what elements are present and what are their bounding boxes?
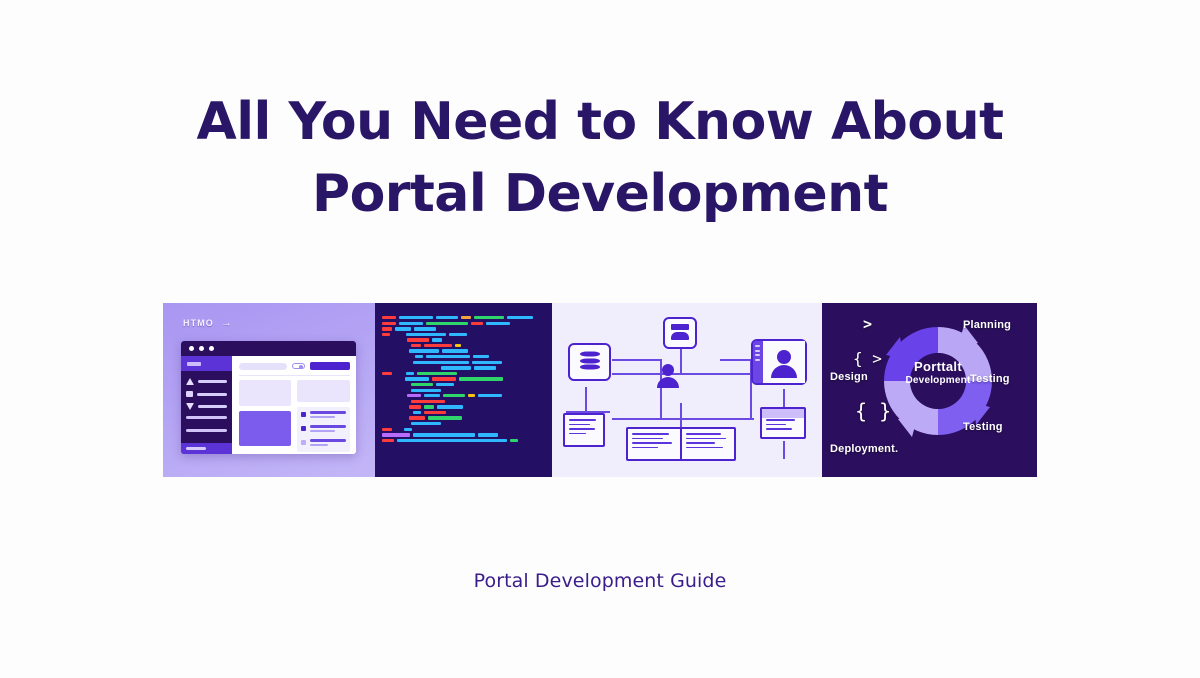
code-line: [382, 333, 544, 336]
divider: [239, 375, 350, 376]
code-token: [441, 366, 471, 369]
code-token: [426, 322, 468, 325]
code-indent: [382, 416, 406, 419]
code-token: [382, 433, 410, 436]
chevron-right-icon: >: [863, 315, 872, 333]
profile-side-menu: [753, 341, 763, 383]
code-token: [411, 422, 441, 425]
code-line: [382, 372, 544, 375]
code-token: [411, 389, 441, 392]
panel-lifecycle-wheel: Porttalt Development Planning Testing Te…: [822, 303, 1037, 477]
braces-icon: { }: [855, 399, 891, 423]
code-token: [413, 361, 469, 364]
code-line: [382, 433, 544, 436]
code-token: [443, 394, 465, 397]
list-item-text: [310, 411, 346, 420]
avatar-icon: [771, 350, 797, 378]
code-token: [432, 377, 456, 380]
htmo-badge-label: HTMO: [183, 318, 214, 328]
connector-line: [680, 349, 682, 375]
title-line-1: All You Need to Know About: [0, 86, 1200, 158]
code-token: [426, 355, 470, 358]
code-line: [382, 349, 544, 352]
panel-architecture-diagram: [552, 303, 822, 477]
code-token: [471, 322, 483, 325]
code-token: [382, 372, 392, 375]
list-item: [301, 411, 346, 420]
code-token: [411, 383, 433, 386]
code-token: [415, 355, 423, 358]
lifecycle-canvas: Porttalt Development Planning Testing Te…: [822, 303, 1037, 477]
code-token: [468, 394, 475, 397]
window-dot-icon: [209, 346, 214, 351]
page-root: All You Need to Know About Portal Develo…: [0, 0, 1200, 678]
code-block: [382, 308, 544, 471]
sidebar-item: [186, 378, 227, 385]
code-indent: [382, 344, 408, 347]
code-token: [473, 355, 489, 358]
code-line: [382, 322, 544, 325]
code-token: [399, 322, 423, 325]
code-token: [399, 316, 433, 319]
connector-line: [585, 387, 587, 413]
list-item: [301, 439, 346, 448]
code-token: [409, 416, 425, 419]
arrow-right-icon: →: [221, 317, 233, 329]
code-indent: [382, 422, 408, 425]
book-node: [626, 427, 736, 461]
bullet-icon: [301, 440, 306, 445]
code-token: [413, 411, 421, 414]
profile-card: [763, 341, 805, 383]
sidebar-footer: [181, 443, 232, 454]
code-token: [474, 316, 504, 319]
placeholder-block: [297, 380, 350, 402]
code-token: [424, 405, 434, 408]
htmo-badge: HTMO →: [183, 317, 233, 329]
code-token: [442, 349, 468, 352]
code-line: [382, 405, 544, 408]
code-token: [449, 333, 467, 336]
connector-line: [612, 418, 754, 420]
code-token: [382, 333, 390, 336]
code-token: [407, 394, 421, 397]
lifecycle-label-design: Design: [830, 371, 868, 383]
code-indent: [382, 411, 410, 414]
code-token: [409, 405, 421, 408]
panel-code-editor: [375, 303, 552, 477]
title-line-2: Portal Development: [0, 158, 1200, 230]
code-line: [382, 361, 544, 364]
lifecycle-label-testing-upper: Testing: [970, 373, 1010, 385]
code-token: [397, 439, 507, 442]
sidebar-item-label: [186, 429, 227, 432]
lifecycle-label-testing-lower: Testing: [963, 421, 1003, 433]
toggle-switch: [292, 363, 305, 369]
mock-content: [232, 356, 356, 454]
sidebar-item: [186, 403, 227, 410]
square-icon: [186, 391, 193, 397]
code-indent: [382, 366, 438, 369]
code-token: [382, 439, 394, 442]
code-line: [382, 338, 544, 341]
code-token: [486, 322, 510, 325]
code-indent: [382, 338, 404, 341]
sidebar-item: [186, 391, 227, 397]
placeholder-block: [239, 380, 291, 406]
panel-browser-ui-mockup: HTMO →: [163, 303, 375, 477]
code-token: [406, 333, 446, 336]
database-icon: [580, 352, 600, 373]
code-token: [405, 377, 429, 380]
code-indent: [382, 405, 406, 408]
triangle-icon: [186, 378, 194, 385]
code-line: [382, 377, 544, 380]
list-item-text: [310, 425, 346, 434]
code-line: [382, 316, 544, 319]
illustration-strip: HTMO →: [163, 303, 1037, 477]
browser-titlebar: [181, 341, 356, 356]
page-title: All You Need to Know About Portal Develo…: [0, 86, 1200, 230]
code-token: [404, 428, 412, 431]
mock-list: [297, 407, 350, 452]
code-token: [409, 349, 439, 352]
code-token: [461, 316, 471, 319]
code-line: [382, 422, 544, 425]
database-node: [568, 343, 611, 381]
code-indent: [395, 372, 403, 375]
book-page-right: [682, 429, 734, 459]
search-input: [239, 363, 287, 370]
code-token: [417, 372, 457, 375]
sidebar-item-label: [186, 416, 227, 419]
list-item-text: [310, 439, 346, 448]
brace-angle-icon: { >: [853, 349, 882, 368]
sidebar-item-label: [198, 405, 227, 408]
code-indent: [382, 400, 408, 403]
server-node: [663, 317, 697, 349]
code-token: [432, 338, 442, 341]
bullet-icon: [301, 426, 306, 431]
code-token: [413, 433, 475, 436]
caption-text: Portal Development Guide: [0, 570, 1200, 592]
code-token: [478, 394, 502, 397]
code-token: [436, 383, 454, 386]
server-icon: [671, 324, 689, 342]
code-line: [382, 411, 544, 414]
primary-button: [310, 362, 350, 370]
sidebar-logo-area: [181, 356, 232, 371]
image-placeholder: [239, 411, 291, 446]
code-indent: [382, 361, 410, 364]
code-line: [382, 355, 544, 358]
window-dot-icon: [199, 346, 204, 351]
mock-card-right: [297, 380, 350, 452]
code-token: [382, 316, 396, 319]
code-line: [382, 439, 544, 442]
code-line: [382, 366, 544, 369]
code-token: [510, 439, 518, 442]
bullet-icon: [301, 412, 306, 417]
code-token: [474, 366, 496, 369]
code-token: [459, 377, 503, 380]
code-token: [437, 405, 463, 408]
sidebar-item-label: [198, 380, 227, 383]
code-token: [382, 428, 392, 431]
code-token: [428, 416, 462, 419]
code-token: [455, 344, 461, 347]
code-line: [382, 327, 544, 330]
connector-line: [783, 441, 785, 459]
code-token: [411, 400, 445, 403]
connector-line: [612, 359, 662, 361]
code-line: [382, 389, 544, 392]
logo-icon: [187, 362, 201, 366]
connector-line: [612, 373, 752, 375]
mock-card-row: [239, 380, 350, 452]
mock-toolbar: [239, 362, 350, 370]
code-indent: [382, 389, 408, 392]
code-token: [472, 361, 502, 364]
document-node-right: [760, 407, 806, 439]
connector-line: [783, 389, 785, 407]
code-token: [395, 327, 411, 330]
lifecycle-label-deployment: Deployment.: [830, 443, 898, 455]
mock-card-left: [239, 380, 291, 452]
code-token: [382, 322, 396, 325]
code-line: [382, 400, 544, 403]
book-page-left: [628, 429, 680, 459]
code-token: [478, 433, 498, 436]
code-indent: [382, 383, 408, 386]
browser-body: [181, 356, 356, 454]
code-indent: [382, 355, 412, 358]
code-token: [424, 411, 446, 414]
sidebar-menu: [181, 371, 232, 443]
lifecycle-label-planning: Planning: [963, 319, 1011, 331]
list-item: [301, 425, 346, 434]
code-token: [407, 338, 429, 341]
code-token: [424, 344, 452, 347]
architecture-canvas: [552, 303, 822, 477]
code-token: [414, 327, 436, 330]
code-indent: [382, 377, 402, 380]
document-node-left: [563, 413, 605, 447]
user-icon: [657, 364, 679, 388]
code-token: [424, 394, 440, 397]
window-dot-icon: [189, 346, 194, 351]
code-line: [382, 344, 544, 347]
code-token: [411, 344, 421, 347]
code-line: [382, 416, 544, 419]
code-indent: [393, 333, 403, 336]
code-token: [436, 316, 458, 319]
code-line: [382, 383, 544, 386]
connector-line: [680, 403, 682, 427]
code-token: [382, 327, 392, 330]
mock-sidebar: [181, 356, 232, 454]
code-line: [382, 428, 544, 431]
sidebar-item-label: [197, 393, 227, 396]
code-indent: [382, 394, 404, 397]
code-token: [507, 316, 533, 319]
browser-window: [181, 341, 356, 454]
code-indent: [382, 349, 406, 352]
code-line: [382, 394, 544, 397]
code-token: [406, 372, 414, 375]
funnel-icon: [186, 403, 194, 410]
connector-line: [720, 359, 752, 361]
user-profile-node: [751, 339, 807, 385]
code-indent: [395, 428, 401, 431]
